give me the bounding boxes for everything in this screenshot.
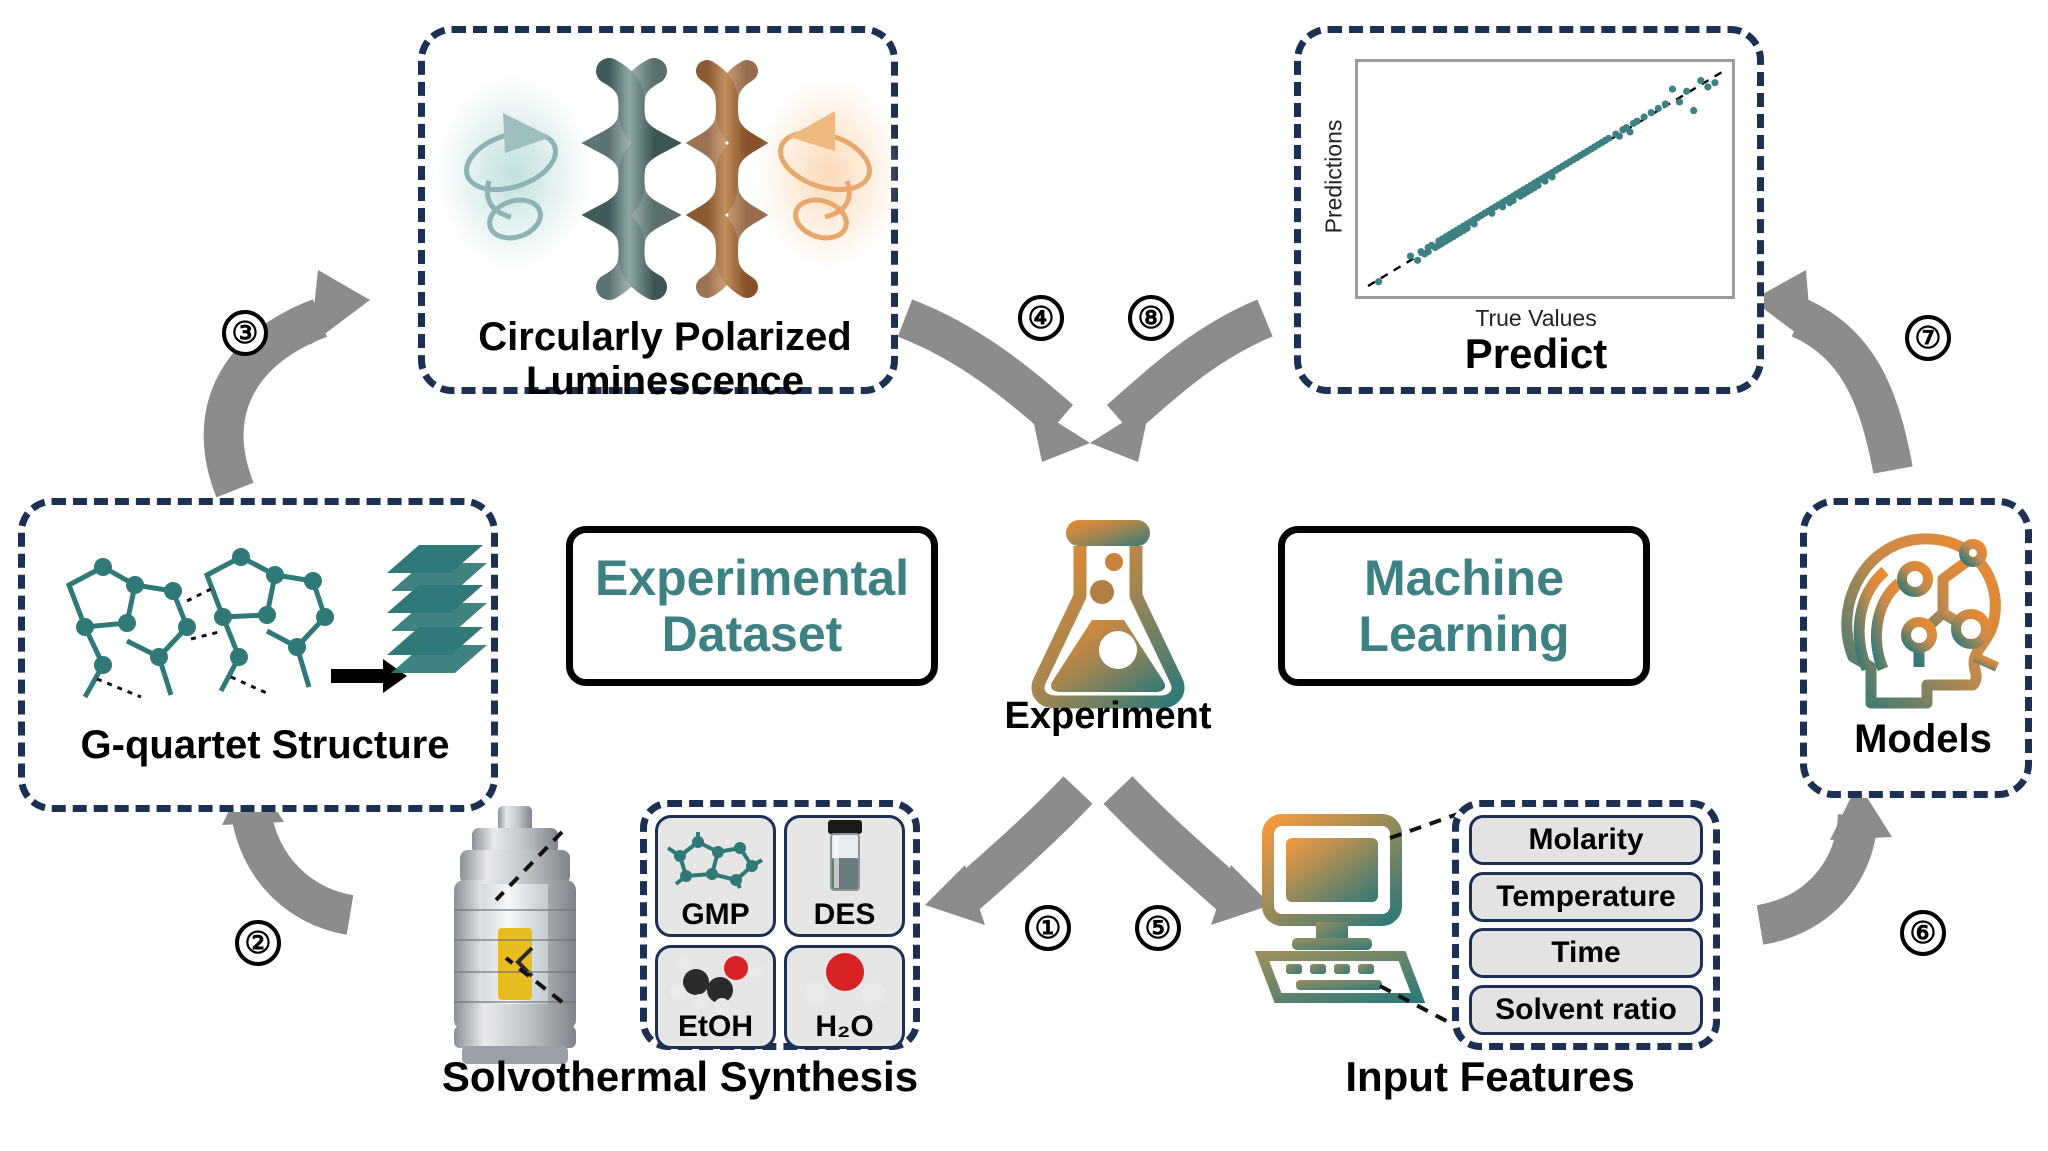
ai-brain-head-icon	[1823, 517, 2023, 717]
feature-pill-time: Time	[1469, 928, 1703, 978]
scatter-point	[1548, 173, 1555, 180]
scatter-point	[1499, 203, 1506, 210]
chem-label-water: H₂O	[815, 1010, 873, 1046]
features-caption: Input Features	[1210, 1054, 1770, 1100]
scatter-point	[1711, 79, 1718, 86]
nucleotide-skeleton-icon	[658, 818, 773, 898]
experiment-flask: Experiment	[1018, 510, 1198, 710]
scatter-point	[1488, 210, 1495, 217]
scatter-point	[1683, 88, 1690, 95]
chem-label-gmp: GMP	[681, 898, 749, 934]
predict-caption: Predict	[1301, 331, 1771, 377]
scatter-point	[1616, 133, 1623, 140]
synthesis-caption: Solvothermal Synthesis	[380, 1054, 980, 1100]
stacked-layers-icon	[387, 545, 487, 673]
g-quartet-illustration	[31, 519, 491, 719]
scatter-point	[1676, 98, 1683, 105]
scatter-point	[1669, 86, 1676, 93]
scatter-point	[1633, 118, 1640, 125]
features-panel: Molarity Temperature Time Solvent ratio	[1452, 800, 1720, 1050]
scatter-point	[1626, 128, 1633, 135]
scatter-point	[1648, 109, 1655, 116]
experiment-caption: Experiment	[978, 696, 1238, 738]
feature-pill-solvent-ratio: Solvent ratio	[1469, 985, 1703, 1035]
chem-card-gmp: GMP	[655, 815, 776, 937]
brown-helix-icon	[707, 71, 747, 287]
arrow-7	[1800, 318, 1893, 470]
cpl-caption: Circularly Polarized Luminescence	[425, 315, 905, 403]
step-4-badge: ④	[1018, 295, 1064, 341]
g-quartet-caption: G-quartet Structure	[25, 723, 505, 767]
solvothermal-synthesis-group: GMP DES	[410, 790, 950, 1080]
arrow-5	[1118, 790, 1236, 900]
feature-pill-molarity: Molarity	[1469, 815, 1703, 865]
cpl-panel: Circularly Polarized Luminescence	[418, 26, 898, 394]
scatter-point	[1704, 83, 1711, 90]
step-6-badge: ⑥	[1900, 910, 1946, 956]
vial-icon	[787, 818, 902, 898]
scatter-point	[1414, 257, 1421, 264]
scatter-point	[1375, 278, 1382, 285]
chart-xlabel: True Values	[1301, 305, 1771, 332]
step-3-badge: ③	[222, 310, 268, 356]
arrow-2	[250, 800, 350, 915]
feature-pill-temperature: Temperature	[1469, 872, 1703, 922]
scatter-point	[1690, 107, 1697, 114]
arrow-8-head	[1090, 405, 1150, 462]
solvothermal-reactor-icon	[410, 800, 650, 1080]
black-arrow-right-icon	[331, 659, 407, 693]
models-panel: Models	[1800, 498, 2032, 798]
erlenmeyer-flask-icon	[1018, 510, 1198, 710]
scatter-point	[1471, 220, 1478, 227]
predict-panel: Predictions True Values Predict	[1294, 26, 1764, 394]
step-7-badge: ⑦	[1905, 315, 1951, 361]
step-5-badge: ⑤	[1135, 905, 1181, 951]
scatter-point	[1697, 77, 1704, 84]
scatter-point	[1662, 101, 1669, 108]
scatter-point	[1605, 135, 1612, 142]
chemicals-panel: GMP DES	[640, 800, 920, 1050]
workflow-diagram: ③ ② ④ ⑧ ① ⑤ ⑥ ⑦	[0, 0, 2048, 1151]
step-1-badge: ①	[1025, 905, 1071, 951]
teal-helix-icon	[609, 71, 654, 287]
scatter-point	[1464, 225, 1471, 232]
chem-card-etoh: EtOH	[655, 945, 776, 1049]
scatter-point	[1510, 197, 1517, 204]
scatter-plot-area	[1358, 62, 1732, 296]
cpl-arrow-left-handed-icon	[436, 75, 592, 271]
arrow-4-head	[1030, 405, 1090, 462]
chem-label-etoh: EtOH	[678, 1010, 753, 1046]
arrow-6	[1760, 815, 1858, 925]
nucleotide-skeleton-icon	[69, 557, 325, 697]
scatter-point	[1641, 113, 1648, 120]
experimental-dataset-box: Experimental Dataset	[566, 526, 938, 686]
scatter-point	[1534, 182, 1541, 189]
chem-label-des: DES	[814, 898, 876, 934]
water-molecule-icon	[787, 948, 902, 1010]
chem-card-des: DES	[784, 815, 905, 937]
arrow-3-head	[310, 270, 370, 345]
machine-learning-box: Machine Learning	[1278, 526, 1650, 686]
cpl-illustration	[439, 53, 889, 303]
chart-ylabel: Predictions	[1321, 82, 1348, 272]
g-quartet-panel: G-quartet Structure	[18, 498, 498, 812]
parity-scatter-chart	[1355, 59, 1735, 299]
models-caption: Models	[1807, 717, 2039, 761]
ethanol-molecule-icon	[658, 948, 773, 1010]
step-2-badge: ②	[235, 920, 281, 966]
arrow-1	[960, 790, 1078, 900]
scatter-point	[1541, 178, 1548, 185]
chem-card-water: H₂O	[784, 945, 905, 1049]
scatter-point	[1655, 105, 1662, 112]
desktop-computer-icon	[1252, 810, 1452, 1030]
input-features-group: Molarity Temperature Time Solvent ratio …	[1230, 790, 1770, 1080]
scatter-point	[1407, 252, 1414, 259]
scatter-points	[1375, 77, 1719, 285]
scatter-point	[1425, 248, 1432, 255]
step-8-badge: ⑧	[1128, 295, 1174, 341]
